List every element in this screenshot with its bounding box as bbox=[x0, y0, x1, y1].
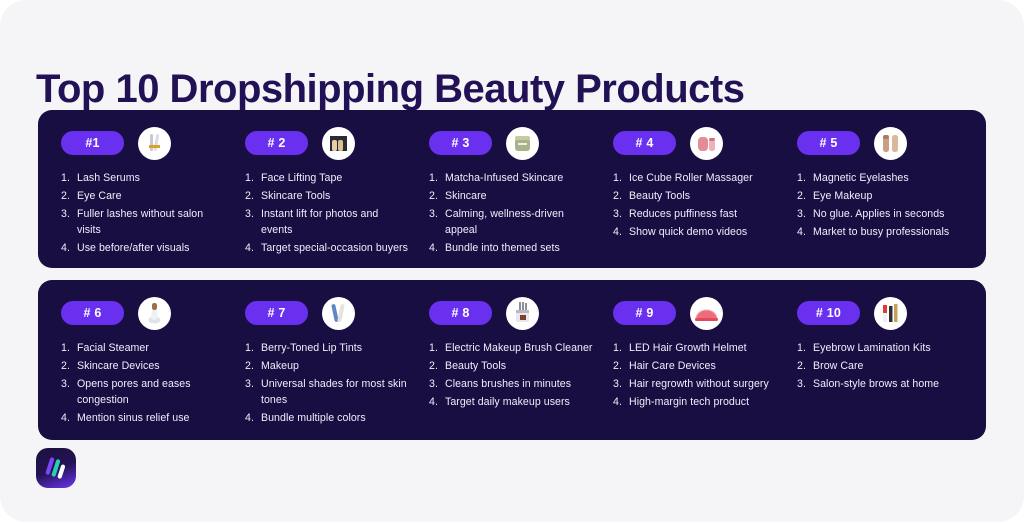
product-card-header: # 4 bbox=[613, 126, 779, 160]
product-detail-item: Skincare Devices bbox=[61, 358, 227, 374]
product-detail-list: Matcha-Infused SkincareSkincareCalming, … bbox=[429, 170, 595, 256]
ice-cube-roller-icon bbox=[690, 127, 723, 160]
product-card-6[interactable]: # 6Facial SteamerSkincare DevicesOpens p… bbox=[52, 296, 236, 426]
product-detail-item: Mention sinus relief use bbox=[61, 410, 227, 426]
product-detail-item: Reduces puffiness fast bbox=[613, 206, 779, 222]
rank-badge: # 4 bbox=[613, 131, 676, 155]
product-card-2[interactable]: # 2Face Lifting TapeSkincare ToolsInstan… bbox=[236, 126, 420, 254]
product-card-4[interactable]: # 4Ice Cube Roller MassagerBeauty ToolsR… bbox=[604, 126, 788, 254]
product-card-10[interactable]: # 10Eyebrow Lamination KitsBrow CareSalo… bbox=[788, 296, 972, 426]
product-detail-list: Magnetic EyelashesEye MakeupNo glue. App… bbox=[797, 170, 963, 240]
product-card-header: # 8 bbox=[429, 296, 595, 330]
product-detail-item: Electric Makeup Brush Cleaner bbox=[429, 340, 595, 356]
product-detail-item: Hair regrowth without surgery bbox=[613, 376, 779, 392]
product-detail-item: Target daily makeup users bbox=[429, 394, 595, 410]
product-detail-item: Salon-style brows at home bbox=[797, 376, 963, 392]
product-detail-item: Universal shades for most skin tones bbox=[245, 376, 411, 408]
product-detail-item: Skincare Tools bbox=[245, 188, 411, 204]
product-detail-item: Eye Makeup bbox=[797, 188, 963, 204]
product-card-header: # 2 bbox=[245, 126, 411, 160]
lash-serum-wands-icon bbox=[138, 127, 171, 160]
product-detail-item: Opens pores and eases congestion bbox=[61, 376, 227, 408]
product-detail-item: Target special-occasion buyers bbox=[245, 240, 411, 256]
product-card-header: # 9 bbox=[613, 296, 779, 330]
lip-tint-tubes-icon bbox=[322, 297, 355, 330]
product-detail-item: Beauty Tools bbox=[429, 358, 595, 374]
product-card-8[interactable]: # 8Electric Makeup Brush CleanerBeauty T… bbox=[420, 296, 604, 426]
product-detail-list: Face Lifting TapeSkincare ToolsInstant l… bbox=[245, 170, 411, 256]
product-card-header: #1 bbox=[61, 126, 227, 160]
product-detail-list: LED Hair Growth HelmetHair Care DevicesH… bbox=[613, 340, 779, 410]
product-detail-item: Show quick demo videos bbox=[613, 224, 779, 240]
eyebrow-lamination-kit-icon bbox=[874, 297, 907, 330]
rank-badge: #1 bbox=[61, 131, 124, 155]
product-detail-list: Facial SteamerSkincare DevicesOpens pore… bbox=[61, 340, 227, 426]
product-card-1[interactable]: #1Lash SerumsEye CareFuller lashes witho… bbox=[52, 126, 236, 254]
product-detail-item: Use before/after visuals bbox=[61, 240, 227, 256]
product-card-3[interactable]: # 3Matcha-Infused SkincareSkincareCalmin… bbox=[420, 126, 604, 254]
product-detail-item: Facial Steamer bbox=[61, 340, 227, 356]
product-detail-item: Hair Care Devices bbox=[613, 358, 779, 374]
product-card-9[interactable]: # 9LED Hair Growth HelmetHair Care Devic… bbox=[604, 296, 788, 426]
product-detail-item: Cleans brushes in minutes bbox=[429, 376, 595, 392]
page-title: Top 10 Dropshipping Beauty Products bbox=[36, 63, 744, 115]
product-card-header: # 7 bbox=[245, 296, 411, 330]
product-detail-item: LED Hair Growth Helmet bbox=[613, 340, 779, 356]
product-detail-item: Eyebrow Lamination Kits bbox=[797, 340, 963, 356]
product-detail-item: Bundle multiple colors bbox=[245, 410, 411, 426]
product-detail-item: Berry-Toned Lip Tints bbox=[245, 340, 411, 356]
product-detail-item: Makeup bbox=[245, 358, 411, 374]
matcha-cream-jar-icon bbox=[506, 127, 539, 160]
brand-logo-mark bbox=[36, 448, 76, 488]
face-lifting-tape-icon bbox=[322, 127, 355, 160]
product-detail-list: Lash SerumsEye CareFuller lashes without… bbox=[61, 170, 227, 256]
product-card-7[interactable]: # 7Berry-Toned Lip TintsMakeupUniversal … bbox=[236, 296, 420, 426]
product-card-header: # 3 bbox=[429, 126, 595, 160]
product-card-header: # 6 bbox=[61, 296, 227, 330]
product-detail-item: Beauty Tools bbox=[613, 188, 779, 204]
product-card-5[interactable]: # 5Magnetic EyelashesEye MakeupNo glue. … bbox=[788, 126, 972, 254]
rank-badge: # 9 bbox=[613, 301, 676, 325]
product-detail-item: Fuller lashes without salon visits bbox=[61, 206, 227, 238]
rank-badge: # 6 bbox=[61, 301, 124, 325]
product-detail-item: Brow Care bbox=[797, 358, 963, 374]
rank-badge: # 10 bbox=[797, 301, 860, 325]
product-card-header: # 5 bbox=[797, 126, 963, 160]
product-detail-item: Eye Care bbox=[61, 188, 227, 204]
product-detail-list: Ice Cube Roller MassagerBeauty ToolsRedu… bbox=[613, 170, 779, 240]
product-detail-item: Bundle into themed sets bbox=[429, 240, 595, 256]
product-detail-item: Magnetic Eyelashes bbox=[797, 170, 963, 186]
product-detail-list: Berry-Toned Lip TintsMakeupUniversal sha… bbox=[245, 340, 411, 426]
infographic-page: Top 10 Dropshipping Beauty Products #1La… bbox=[0, 0, 1024, 522]
product-detail-item: Matcha-Infused Skincare bbox=[429, 170, 595, 186]
led-hair-helmet-icon bbox=[690, 297, 723, 330]
product-detail-item: Instant lift for photos and events bbox=[245, 206, 411, 238]
rank-badge: # 7 bbox=[245, 301, 308, 325]
product-detail-item: Calming, wellness-driven appeal bbox=[429, 206, 595, 238]
product-detail-item: High-margin tech product bbox=[613, 394, 779, 410]
product-detail-item: Face Lifting Tape bbox=[245, 170, 411, 186]
product-detail-item: Market to busy professionals bbox=[797, 224, 963, 240]
facial-steamer-icon bbox=[138, 297, 171, 330]
product-detail-item: No glue. Applies in seconds bbox=[797, 206, 963, 222]
product-detail-list: Electric Makeup Brush CleanerBeauty Tool… bbox=[429, 340, 595, 410]
rank-badge: # 8 bbox=[429, 301, 492, 325]
product-detail-item: Ice Cube Roller Massager bbox=[613, 170, 779, 186]
magnetic-eyelashes-icon bbox=[874, 127, 907, 160]
brush-cleaner-icon bbox=[506, 297, 539, 330]
product-row-2: # 6Facial SteamerSkincare DevicesOpens p… bbox=[38, 280, 986, 440]
product-row-1: #1Lash SerumsEye CareFuller lashes witho… bbox=[38, 110, 986, 268]
rank-badge: # 2 bbox=[245, 131, 308, 155]
product-detail-list: Eyebrow Lamination KitsBrow CareSalon-st… bbox=[797, 340, 963, 392]
brand-logo bbox=[36, 448, 76, 488]
rank-badge: # 3 bbox=[429, 131, 492, 155]
product-detail-item: Skincare bbox=[429, 188, 595, 204]
product-card-header: # 10 bbox=[797, 296, 963, 330]
product-detail-item: Lash Serums bbox=[61, 170, 227, 186]
rank-badge: # 5 bbox=[797, 131, 860, 155]
